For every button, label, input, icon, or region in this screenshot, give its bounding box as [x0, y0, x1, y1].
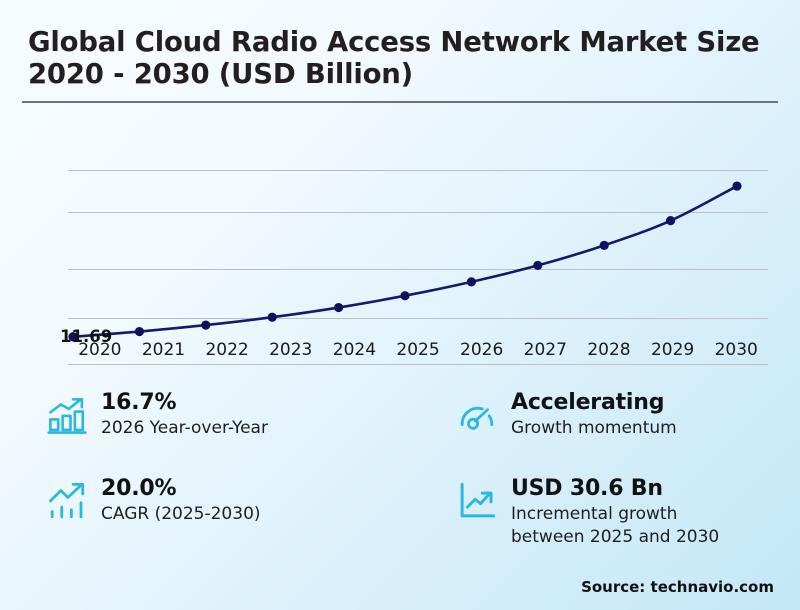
kpi-card-cagr: 20.0% CAGR (2025-2030) — [46, 476, 261, 525]
data-point-2030 — [732, 181, 741, 190]
x-axis-tick: 2024 — [323, 340, 387, 364]
source-attribution: Source: technavio.com — [581, 578, 774, 596]
kpi-grid: 16.7% 2026 Year-over-Year 20.0% CAGR (20… — [0, 384, 800, 569]
x-axis-tick: 2021 — [132, 340, 196, 364]
kpi-value: 16.7% — [101, 390, 268, 416]
x-axis-tick: 2020 — [68, 340, 132, 364]
data-point-2023 — [268, 313, 277, 322]
kpi-text: Accelerating Growth momentum — [511, 390, 677, 439]
data-point-2028 — [600, 241, 609, 250]
x-axis-tick: 2027 — [513, 340, 577, 364]
x-axis-tick: 2022 — [195, 340, 259, 364]
kpi-text: USD 30.6 Bn Incremental growth between 2… — [511, 476, 719, 548]
series-path — [68, 144, 768, 364]
data-point-2027 — [533, 261, 542, 270]
kpi-label: Incremental growth — [511, 504, 719, 525]
x-axis-tick: 2028 — [577, 340, 641, 364]
kpi-value: USD 30.6 Bn — [511, 476, 719, 502]
title-divider — [22, 101, 778, 103]
kpi-label: CAGR (2025-2030) — [101, 504, 261, 525]
kpi-card-momentum: Accelerating Growth momentum — [456, 390, 677, 439]
x-axis-labels: 2020 2021 2022 2023 2024 2025 2026 2027 … — [68, 340, 768, 364]
x-axis-tick: 2025 — [386, 340, 450, 364]
data-point-2021 — [135, 327, 144, 336]
data-point-2026 — [467, 277, 476, 286]
x-axis-tick: 2026 — [450, 340, 514, 364]
data-point-2025 — [400, 291, 409, 300]
plot-area: 11.69 — [68, 144, 768, 356]
kpi-text: 20.0% CAGR (2025-2030) — [101, 476, 261, 525]
market-size-line-chart: 11.69 2020 2021 2022 2023 2024 2025 2026… — [0, 118, 800, 368]
trend-axis-arrow-icon — [456, 480, 498, 522]
kpi-card-incremental: USD 30.6 Bn Incremental growth between 2… — [456, 476, 719, 548]
speedometer-icon — [456, 394, 498, 436]
kpi-value: Accelerating — [511, 390, 677, 416]
kpi-label: 2026 Year-over-Year — [101, 418, 268, 439]
line-chart-bars-icon — [46, 480, 88, 522]
data-point-2024 — [334, 303, 343, 312]
page-title: Global Cloud Radio Access Network Market… — [28, 26, 776, 90]
kpi-label: Growth momentum — [511, 418, 677, 439]
kpi-value: 20.0% — [101, 476, 261, 502]
data-point-2029 — [666, 216, 675, 225]
gridline — [68, 364, 768, 365]
x-axis-tick: 2023 — [259, 340, 323, 364]
kpi-label-secondary: between 2025 and 2030 — [511, 527, 719, 548]
kpi-card-yoy: 16.7% 2026 Year-over-Year — [46, 390, 268, 439]
x-axis-tick: 2030 — [704, 340, 768, 364]
kpi-text: 16.7% 2026 Year-over-Year — [101, 390, 268, 439]
x-axis-tick: 2029 — [641, 340, 705, 364]
data-point-2022 — [201, 321, 210, 330]
title-line-2: 2020 - 2030 (USD Billion) — [28, 58, 776, 90]
title-line-1: Global Cloud Radio Access Network Market… — [28, 26, 776, 58]
bar-chart-growth-icon — [46, 394, 88, 436]
